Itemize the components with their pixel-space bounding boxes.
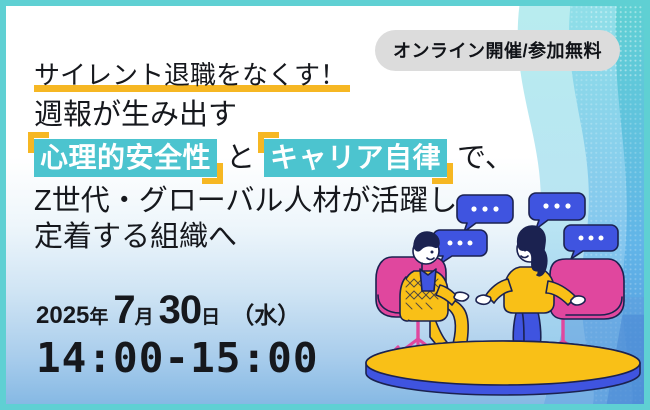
headline-line-1-text: サイレント退職をなくす！ xyxy=(34,60,346,90)
date-month-unit: 月 xyxy=(135,302,159,329)
webinar-banner: オンライン開催/参加無料 サイレント退職をなくす！ 週報が生み出す 心理的安全性… xyxy=(0,0,650,410)
highlight-box-career-autonomy: キャリア自律 xyxy=(264,139,447,177)
headline-line-2: 週報が生み出す xyxy=(34,101,514,130)
platform xyxy=(366,341,640,395)
date-month: 7 xyxy=(113,288,134,333)
date-day: 30 xyxy=(159,288,202,333)
date-day-unit: 日 xyxy=(201,302,225,329)
status-badge: オンライン開催/参加無料 xyxy=(375,30,620,71)
highlight-box-psychological-safety: 心理的安全性 xyxy=(34,139,217,177)
event-date: 2025 年 7 月 30 日 （水） xyxy=(36,288,319,333)
date-year-unit: 年 xyxy=(89,302,113,329)
headline-line-5: 定着する組織へ xyxy=(34,223,514,252)
headline-line-1: サイレント退職をなくす！ xyxy=(34,62,346,92)
event-time: 14:00-15:00 xyxy=(36,337,319,380)
headline-line-3-tail: で、 xyxy=(449,144,514,173)
date-weekday: （水） xyxy=(225,296,300,330)
headline-conjunction: と xyxy=(219,144,262,173)
headline-line-3: 心理的安全性 と キャリア自律 で、 xyxy=(34,138,514,178)
headline-line-4: Z世代・グローバル人材が活躍し xyxy=(34,187,514,216)
date-year: 2025 xyxy=(36,302,89,330)
headline-block: サイレント退職をなくす！ 週報が生み出す 心理的安全性 と キャリア自律 で、 … xyxy=(34,62,514,252)
datetime-block: 2025 年 7 月 30 日 （水） 14:00-15:00 xyxy=(36,288,319,380)
